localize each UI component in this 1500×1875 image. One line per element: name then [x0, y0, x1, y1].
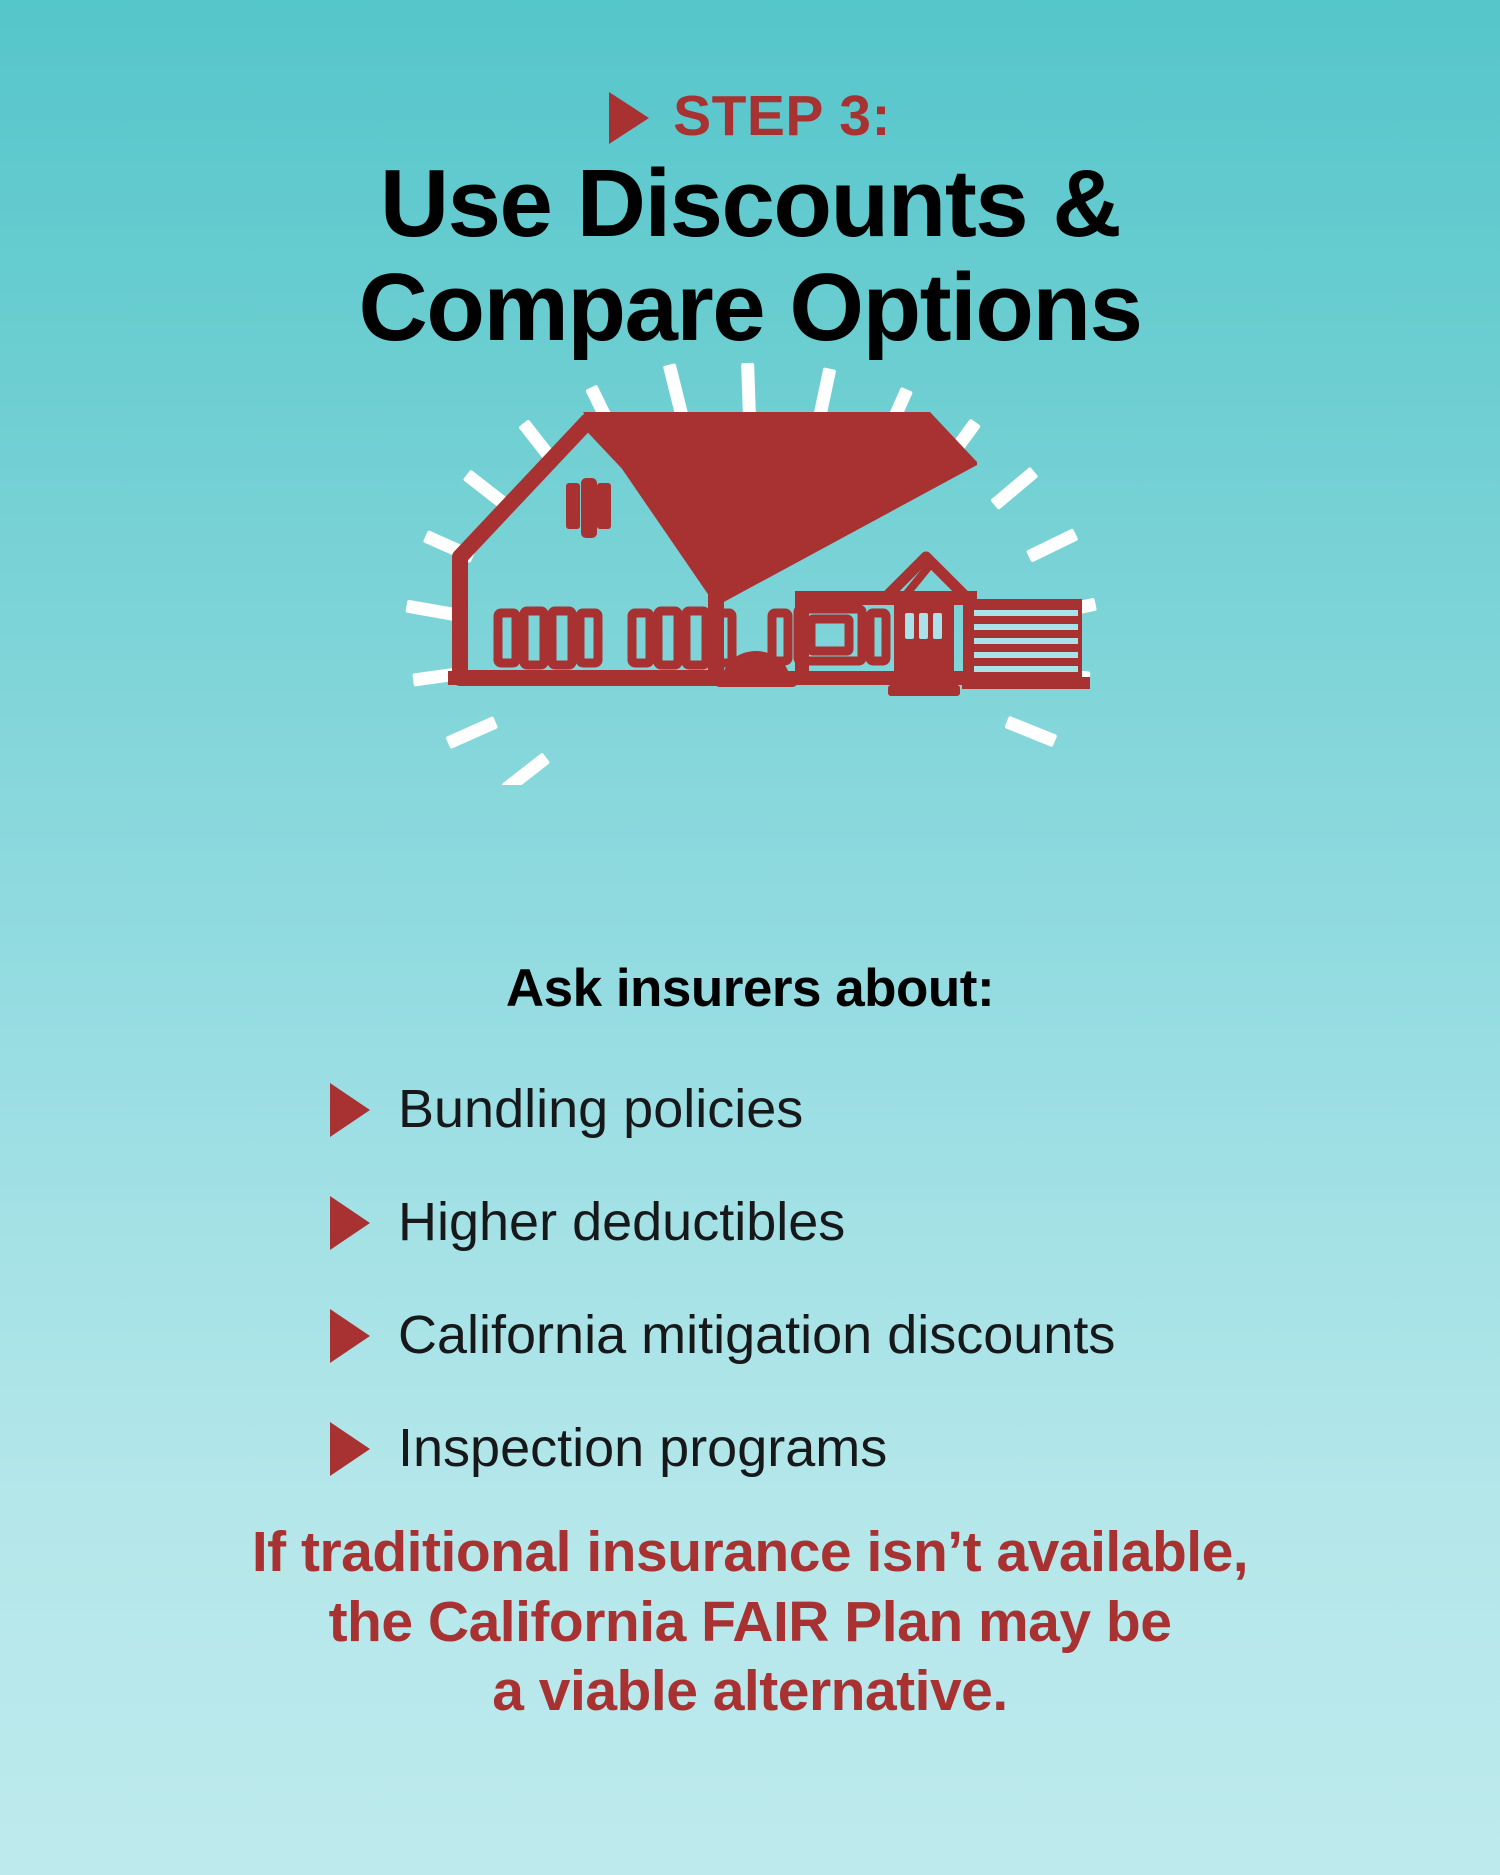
discount-options-list: Bundling policies Higher deductibles Cal…	[330, 1053, 1390, 1505]
house-with-sunburst-illustration	[370, 355, 1130, 785]
list-item: Bundling policies	[330, 1053, 1390, 1166]
step-label: STEP 3:	[673, 88, 891, 145]
list-item-label: Higher deductibles	[398, 1193, 845, 1252]
window-icon	[498, 611, 598, 665]
list-item-label: Inspection programs	[398, 1419, 887, 1478]
ask-insurers-heading: Ask insurers about:	[0, 958, 1500, 1019]
front-door-icon	[888, 601, 960, 696]
list-item: Higher deductibles	[330, 1166, 1390, 1279]
list-item: Inspection programs	[330, 1392, 1390, 1505]
garage-base-line	[962, 677, 1090, 689]
page-title-line-1: Use Discounts &	[0, 152, 1500, 256]
triangle-right-icon	[330, 1309, 370, 1363]
fair-plan-callout-line-2: the California FAIR Plan may be	[0, 1588, 1500, 1658]
garage-door-icon	[970, 599, 1082, 685]
fair-plan-callout-line-3: a viable alternative.	[0, 1657, 1500, 1727]
triangle-right-icon	[330, 1196, 370, 1250]
attic-window-icon	[566, 479, 611, 537]
page-title: Use Discounts & Compare Options	[0, 152, 1500, 359]
list-item-label: California mitigation discounts	[398, 1306, 1115, 1365]
list-item-label: Bundling policies	[398, 1080, 803, 1139]
fair-plan-callout: If traditional insurance isn’t available…	[0, 1518, 1500, 1727]
triangle-right-icon	[330, 1083, 370, 1137]
infographic-poster: STEP 3: Use Discounts & Compare Options	[0, 0, 1500, 1875]
list-item: California mitigation discounts	[330, 1279, 1390, 1392]
triangle-right-icon	[609, 92, 649, 144]
page-title-line-2: Compare Options	[0, 256, 1500, 360]
step-eyebrow: STEP 3:	[0, 88, 1500, 145]
window-icon	[632, 611, 732, 665]
triangle-right-icon	[330, 1422, 370, 1476]
window-icon	[772, 609, 886, 661]
fair-plan-callout-line-1: If traditional insurance isn’t available…	[0, 1518, 1500, 1588]
